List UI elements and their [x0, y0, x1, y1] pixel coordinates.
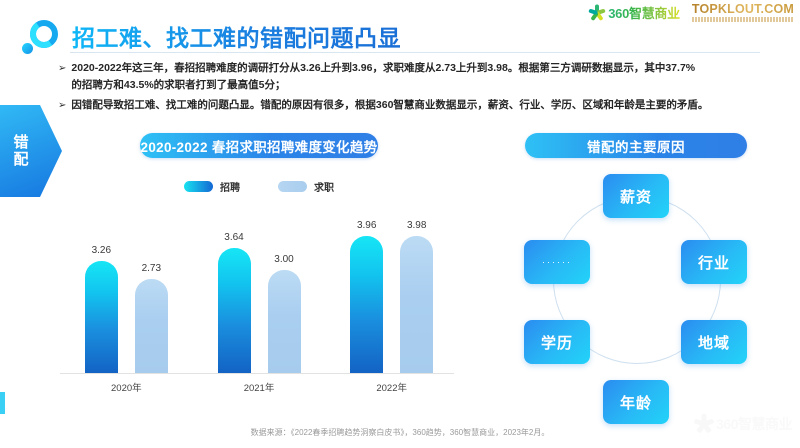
bullet-line: 的招聘方和43.5%的求职者打到了最高值5分；: [71, 77, 695, 94]
bar-jobseek-2022: 3.98: [400, 236, 433, 373]
bar-recruit-2022: 3.96: [350, 236, 383, 373]
bullet-arrow-icon: ➢: [58, 97, 66, 114]
bar-value-label: 3.00: [274, 254, 293, 265]
diagram-node-others: ······: [524, 240, 590, 284]
ring-dot-icon: [22, 20, 58, 56]
node-label: 学历: [541, 332, 573, 353]
chart-x-axis-labels: 2020年 2021年 2022年: [60, 380, 458, 394]
bar-group: 3.96 3.98: [325, 204, 458, 373]
bar-value-label: 3.96: [357, 220, 376, 231]
node-label: 薪资: [620, 186, 652, 207]
360-flower-icon: [588, 4, 605, 21]
logo-360: 360智慧商业: [588, 3, 680, 22]
ring-shape: [30, 20, 58, 48]
page-title: 招工难、找工难的错配问题凸显: [72, 19, 401, 53]
bar-group: 3.64 3.00: [193, 204, 326, 373]
node-label: 年龄: [620, 392, 652, 413]
list-item: ➢ 因错配导致招工难、找工难的问题凸显。错配的原因有很多，根据360智慧商业数据…: [58, 97, 758, 114]
bar-jobseek-2020: 2.73: [135, 279, 168, 373]
node-label: 行业: [698, 252, 730, 273]
bullet-arrow-icon: ➢: [58, 60, 66, 77]
bullet-line: 2020-2022年这三年，春招招聘难度的调研打分从3.26上升到3.96，求职…: [71, 60, 695, 77]
watermark-flower-icon: [695, 415, 713, 433]
chart-plot-area: 3.26 2.73 3.64 3.00 3.96: [60, 204, 458, 374]
brand-logos: 360智慧商业 TOPKLOUT.COM: [588, 3, 794, 22]
data-source-note: 数据来源：《2022春季招聘趋势洞察白皮书》，360趋势，360智慧商业，202…: [0, 427, 800, 438]
diagram-title: 错配的主要原因: [525, 133, 747, 158]
decor-left-bar: [0, 392, 5, 414]
diagram-node-age: 年龄: [603, 380, 669, 424]
dot-shape: [22, 43, 33, 54]
list-item: ➢ 2020-2022年这三年，春招招聘难度的调研打分从3.26上升到3.96，…: [58, 60, 758, 94]
bar-recruit-2021: 3.64: [218, 248, 251, 374]
bar-value-label: 3.26: [92, 245, 111, 256]
bullet-list: ➢ 2020-2022年这三年，春招招聘难度的调研打分从3.26上升到3.96，…: [58, 60, 758, 117]
diagram-ring-area: 薪资 行业 地域 年龄 学历 ······: [486, 168, 786, 418]
legend-item: 求职: [278, 179, 334, 194]
diagram-node-region: 地域: [681, 320, 747, 364]
bar-groups: 3.26 2.73 3.64 3.00 3.96: [60, 204, 458, 373]
x-tick-label: 2021年: [193, 380, 326, 394]
section-tab-mismatch: 错配: [0, 105, 62, 197]
slide-root: 360智慧商业 TOPKLOUT.COM 招工难、找工难的错配问题凸显 ➢ 20…: [0, 0, 800, 448]
logo-topklout-text: TOPKLOUT.COM: [692, 3, 794, 16]
chart-baseline: [60, 373, 454, 374]
bar-value-label: 2.73: [142, 263, 161, 274]
bullet-body: 因错配导致招工难、找工难的问题凸显。错配的原因有很多，根据360智慧商业数据显示…: [71, 97, 708, 114]
bar-recruit-2020: 3.26: [85, 261, 118, 373]
logo-360-text: 360智慧商业: [608, 3, 680, 22]
legend-swatch-recruit: [184, 181, 213, 192]
bar-value-label: 3.64: [224, 232, 243, 243]
bar-chart-panel: 2020-2022 春招求职招聘难度变化趋势 招聘 求职 3.26 2.73: [60, 133, 458, 418]
watermark-text: 360智慧商业: [716, 414, 792, 434]
x-tick-label: 2022年: [325, 380, 458, 394]
x-tick-label: 2020年: [60, 380, 193, 394]
legend-label: 求职: [314, 179, 334, 194]
diagram-node-salary: 薪资: [603, 174, 669, 218]
bullet-line: 因错配导致招工难、找工难的问题凸显。错配的原因有很多，根据360智慧商业数据显示…: [71, 97, 708, 114]
bar-value-label: 3.98: [407, 220, 426, 231]
node-label: ······: [542, 257, 572, 267]
diagram-node-industry: 行业: [681, 240, 747, 284]
watermark-360: 360智慧商业: [695, 414, 792, 434]
title-divider: [70, 52, 760, 53]
legend-label: 招聘: [220, 179, 240, 194]
bar-jobseek-2021: 3.00: [268, 270, 301, 373]
section-tab-label: 错配: [12, 134, 30, 168]
causes-diagram-panel: 错配的主要原因 薪资 行业 地域 年龄 学历 ······: [486, 133, 786, 418]
chart-title: 2020-2022 春招求职招聘难度变化趋势: [140, 133, 378, 158]
bullet-body: 2020-2022年这三年，春招招聘难度的调研打分从3.26上升到3.96，求职…: [71, 60, 695, 94]
logo-topklout: TOPKLOUT.COM: [692, 3, 794, 22]
legend-swatch-jobseek: [278, 181, 307, 192]
chart-legend: 招聘 求职: [60, 179, 458, 194]
node-label: 地域: [698, 332, 730, 353]
logo-topklout-underbar: [692, 17, 794, 22]
legend-item: 招聘: [184, 179, 240, 194]
diagram-node-education: 学历: [524, 320, 590, 364]
bar-group: 3.26 2.73: [60, 204, 193, 373]
